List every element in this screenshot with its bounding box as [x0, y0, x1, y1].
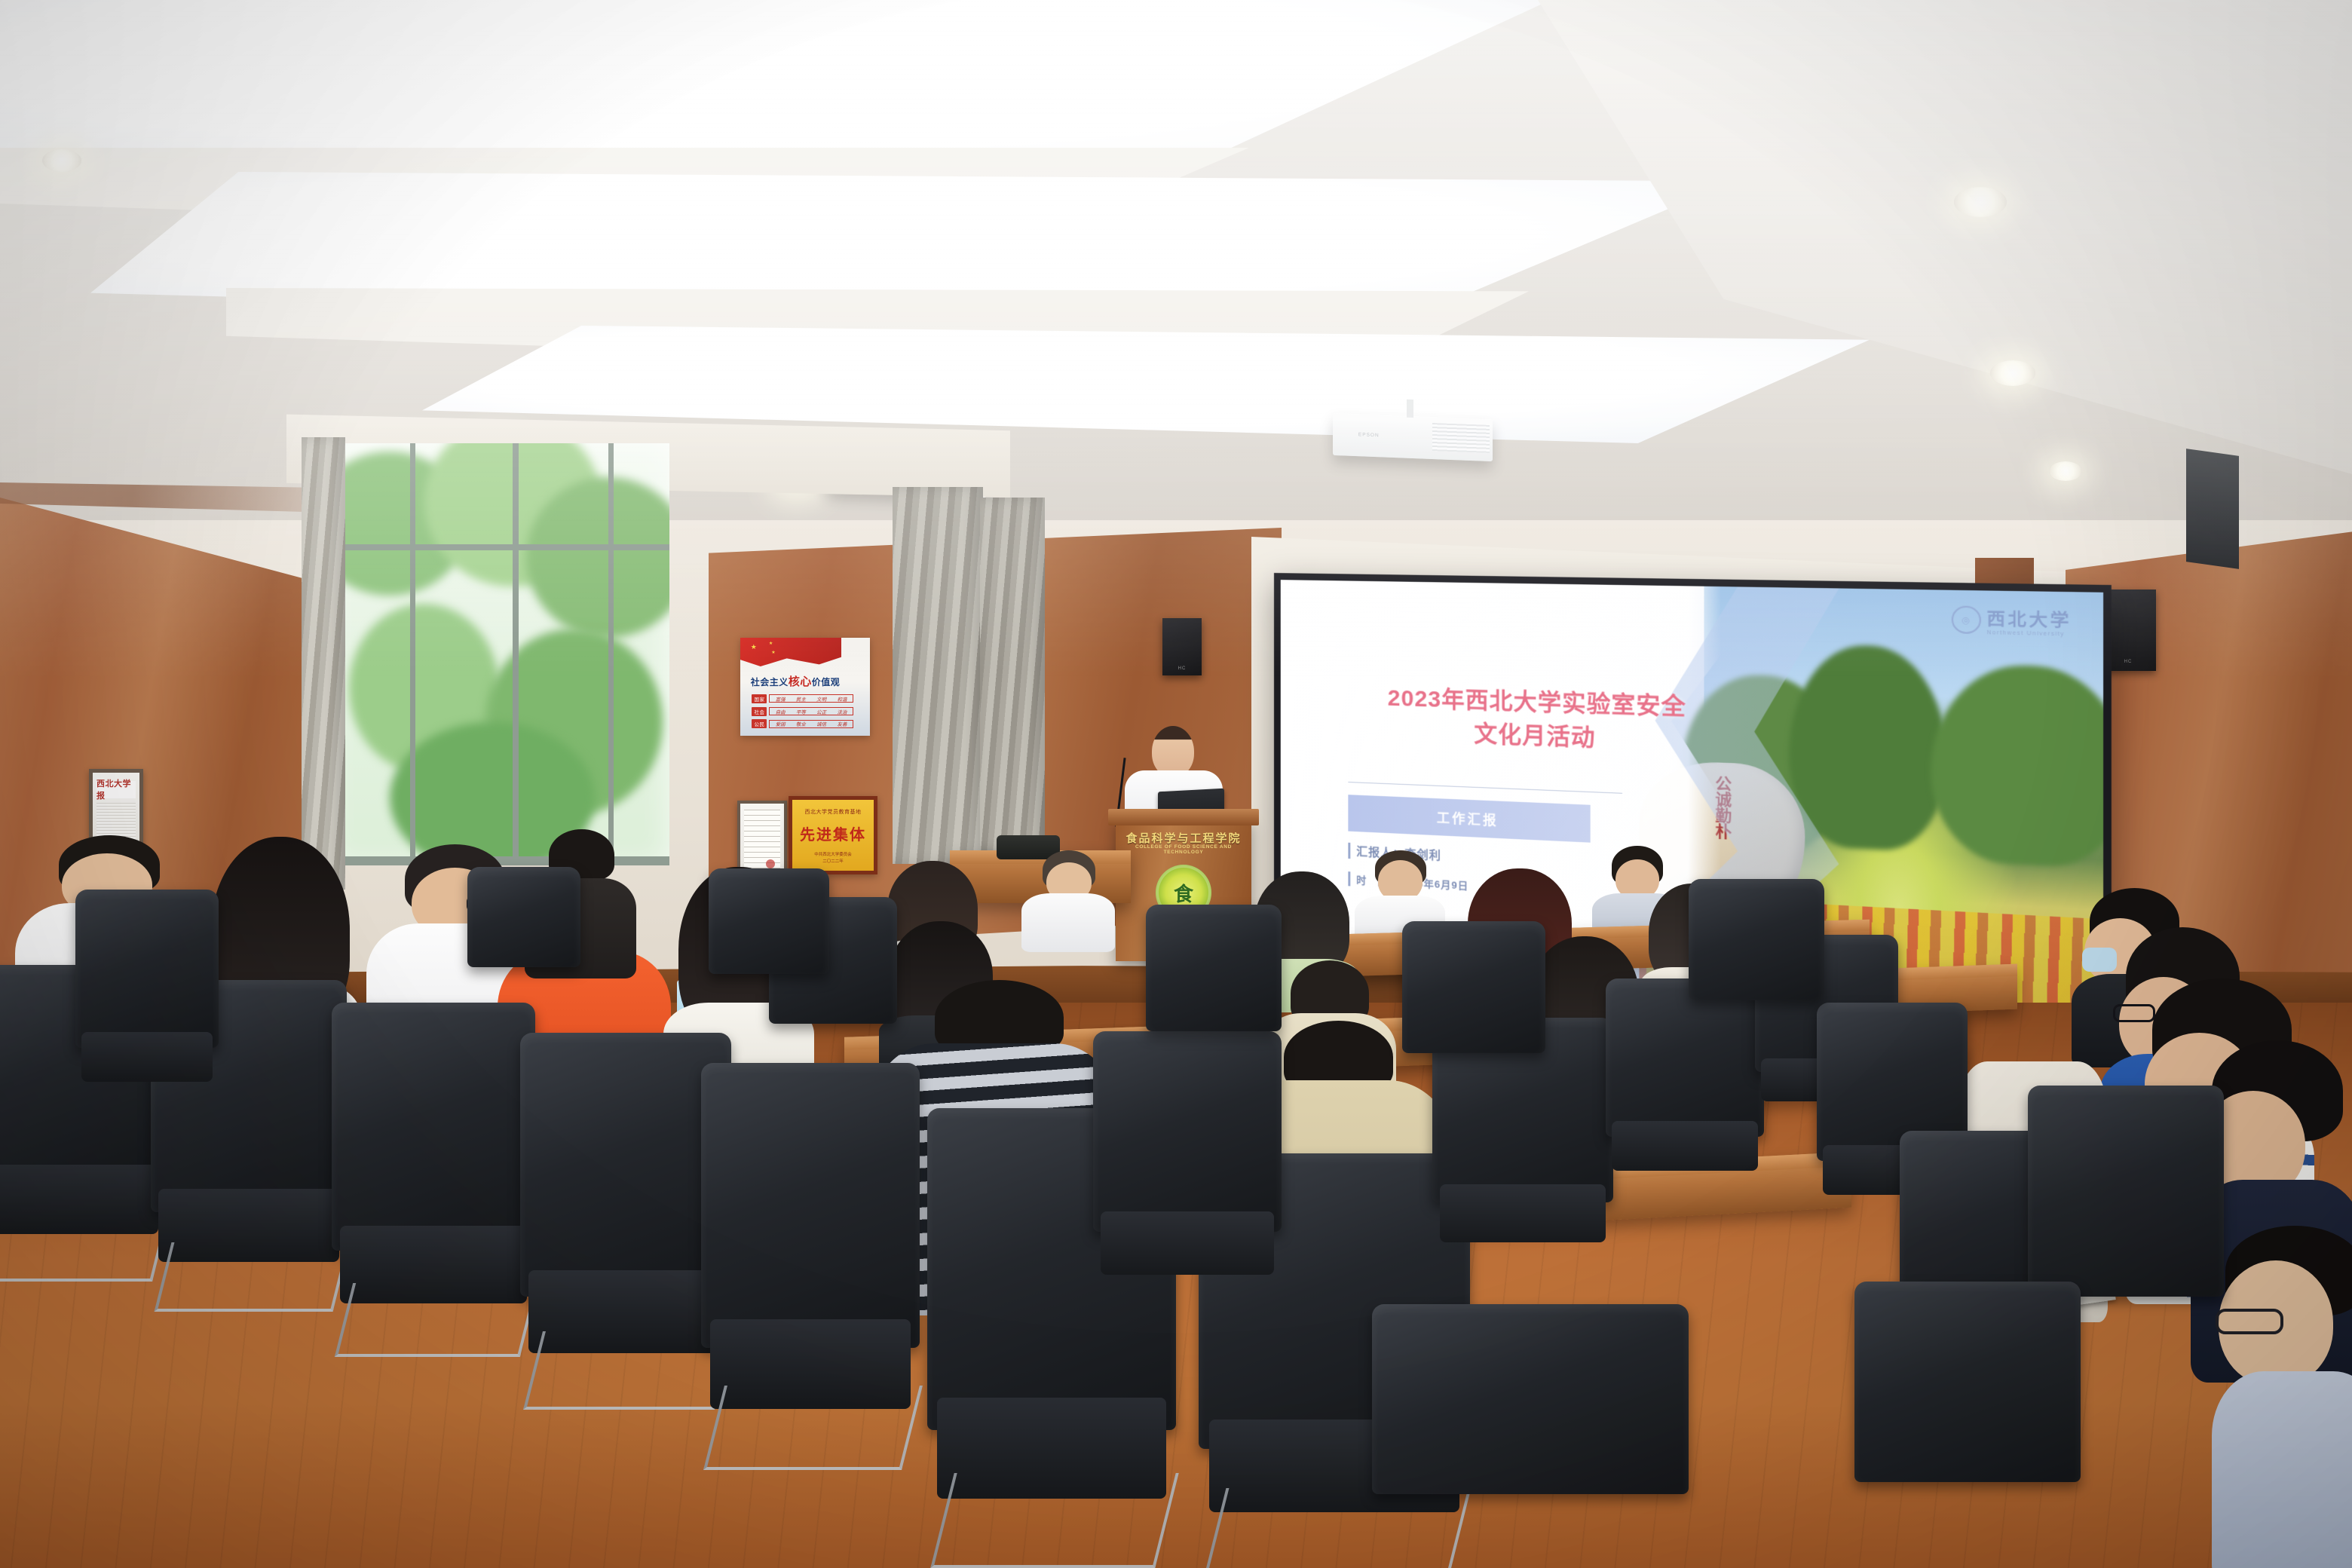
downlight-1	[42, 149, 81, 172]
chair[interactable]	[467, 867, 580, 1010]
poster-row: 公民 爱国敬业诚信友善	[752, 719, 853, 729]
plaque-year: 二〇二二年	[822, 859, 844, 864]
chair-back	[2028, 1086, 2224, 1297]
plaque-issuer: 中共西北大学委员会 二〇二二年	[792, 852, 874, 865]
attendee-glasses-foreground	[2212, 1226, 2352, 1568]
chair-back	[75, 890, 219, 1048]
wall-speaker-left: HC	[1162, 618, 1202, 675]
chair-back	[1854, 1282, 2081, 1482]
air-vent	[2186, 449, 2239, 569]
star-icon: ★	[769, 641, 773, 646]
chair-seat	[1612, 1121, 1757, 1171]
lectern-college-name: 食品科学与工程学院	[1116, 830, 1251, 846]
poster-title: 社会主义核心价值观	[751, 673, 841, 689]
chair[interactable]	[1146, 905, 1282, 1086]
window-mullion-horizontal	[329, 544, 669, 550]
window-wall	[329, 443, 669, 865]
torso	[1021, 893, 1116, 952]
poster-row-tag: 国家	[752, 694, 767, 703]
chair[interactable]	[520, 1033, 731, 1410]
window-mullion-vertical	[410, 443, 415, 865]
certificate-body	[744, 810, 781, 871]
poster-row: 社会 自由平等公正法治	[752, 706, 853, 716]
chair-sled-base	[154, 1242, 350, 1312]
curtain-right	[980, 498, 1045, 852]
conference-room-photo: EPSON EPSON ★	[0, 0, 2352, 1568]
speaker-brand-label: HC	[2124, 660, 2133, 664]
projector-vent	[1432, 423, 1490, 453]
chair-back	[709, 868, 829, 974]
poster-title-prefix: 社会主义	[751, 677, 789, 688]
presenter-head	[1152, 726, 1194, 777]
chair[interactable]	[701, 1063, 920, 1470]
slide-title-line1: 2023年西北大学实验室安全	[1388, 685, 1686, 720]
plaque-main-text: 先进集体	[792, 822, 874, 844]
chair-seat	[81, 1032, 213, 1082]
poster-row: 国家 富强民主文明和谐	[752, 694, 853, 703]
lectern-top	[1108, 809, 1259, 825]
poster-row-tag: 公民	[752, 719, 767, 728]
projector-mount	[1407, 400, 1413, 418]
eyeglasses-icon	[2216, 1309, 2283, 1334]
chair-back	[1146, 905, 1282, 1031]
lectern-college-name-en: COLLEGE OF FOOD SCIENCE AND TECHNOLOGY	[1116, 844, 1251, 855]
chair-back	[332, 1003, 535, 1251]
chair-back	[1372, 1304, 1689, 1494]
poster-row-values: 爱国敬业诚信友善	[769, 720, 853, 728]
chair[interactable]	[75, 890, 219, 1116]
poster-row-values: 自由平等公正法治	[769, 707, 853, 715]
logo-cn-text: 西北大学	[1987, 605, 2072, 632]
chair-back	[1689, 879, 1824, 1000]
chair-sled-base	[703, 1386, 923, 1470]
chair[interactable]	[1689, 879, 1824, 1052]
newspaper-masthead: 西北大学报	[96, 781, 136, 799]
window-mullion-vertical	[513, 443, 519, 865]
award-plaque: 西北大学党员教育基地 先进集体 中共西北大学委员会 二〇二二年	[789, 796, 877, 874]
plaque-issuer-name: 中共西北大学委员会	[814, 853, 852, 857]
window-mullion-vertical	[608, 443, 614, 865]
chair-sled-base	[335, 1283, 538, 1357]
speaker-brand-label: HC	[1178, 666, 1187, 671]
downlight-2	[1954, 187, 2007, 217]
chair[interactable]	[1372, 1304, 1689, 1568]
nwu-emblem-icon: ◎	[1951, 605, 1980, 634]
chair[interactable]	[1402, 921, 1545, 1110]
curtain-left	[302, 437, 345, 890]
attendee	[1019, 850, 1117, 948]
plaque-top-line: 西北大学党员教育基地	[792, 808, 874, 816]
chair[interactable]	[709, 868, 829, 1019]
chair[interactable]	[332, 1003, 535, 1357]
chair-sled-base	[930, 1473, 1179, 1568]
downlight-4	[2049, 461, 2082, 481]
star-icon: ★	[771, 650, 775, 655]
poster-title-hot: 核心	[789, 676, 812, 688]
slide-university-logo: ◎ 西北大学 Northwest University	[1951, 605, 2072, 637]
chair-back	[520, 1033, 731, 1297]
chair-back	[1402, 921, 1545, 1053]
chair-seat	[1440, 1184, 1606, 1242]
star-icon: ★	[751, 643, 757, 651]
ceiling-projector-2: EPSON	[1333, 413, 1493, 461]
projector-brand-label: EPSON	[1358, 432, 1380, 438]
torso	[2212, 1371, 2352, 1568]
tree-shape	[1931, 663, 2103, 869]
tree-shape	[1789, 644, 1947, 853]
curtain-center	[893, 487, 983, 864]
chair-back	[467, 867, 580, 967]
chair-sled-base	[0, 1215, 169, 1282]
core-values-poster: ★ ★ ★ 社会主义核心价值观 国家 富强民主文明和谐 社会 自由平等公正法治 …	[740, 638, 870, 736]
poster-row-tag: 社会	[752, 707, 767, 716]
poster-row-values: 富强民主文明和谐	[769, 694, 853, 703]
chair-back	[701, 1063, 920, 1348]
chair-seat	[1101, 1211, 1274, 1275]
downlight-3	[1990, 360, 2035, 386]
chair[interactable]	[1854, 1282, 2081, 1568]
poster-title-suffix: 价值观	[812, 677, 841, 688]
